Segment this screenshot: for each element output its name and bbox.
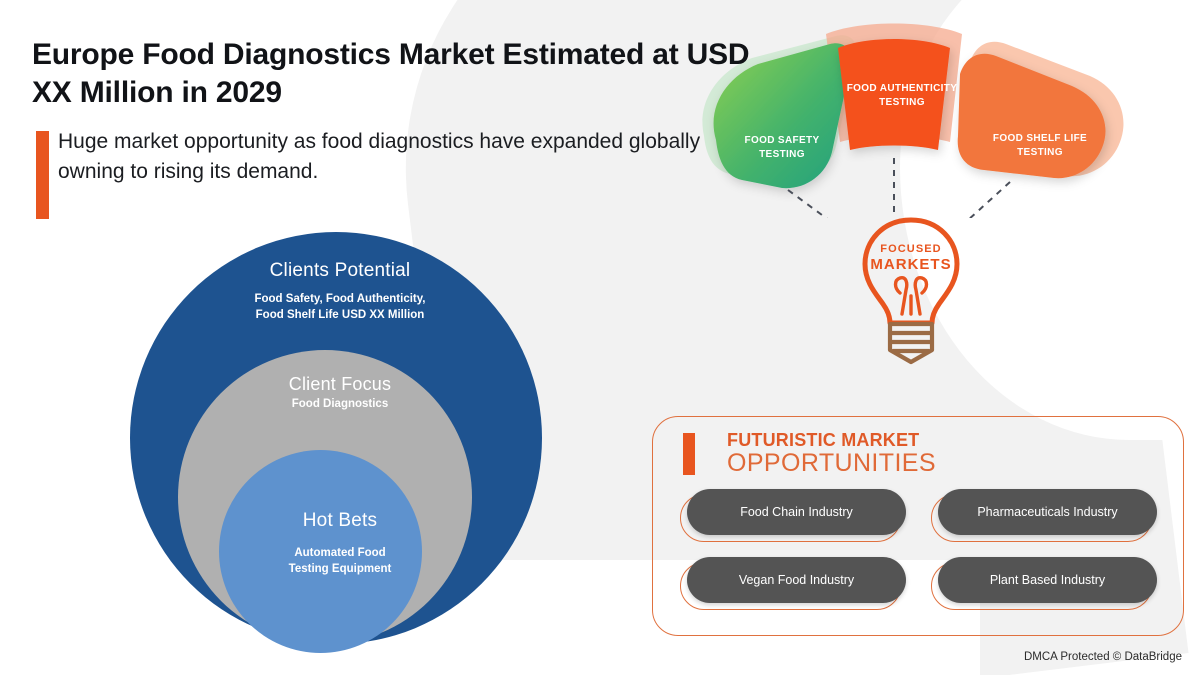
footer-copyright: DMCA Protected © DataBridge xyxy=(1024,651,1182,663)
list-item[interactable]: Pharmaceuticals Industry xyxy=(936,489,1155,537)
ring-desc: Automated FoodTesting Equipment xyxy=(130,546,550,578)
list-item[interactable]: Vegan Food Industry xyxy=(685,557,904,605)
bulb-label: FOCUSED MARKETS xyxy=(852,244,970,272)
petal-label-food-authenticity: FOOD AUTHENTICITYTESTING xyxy=(822,82,982,109)
accent-bar xyxy=(36,131,49,219)
pill-vegan-food-industry[interactable]: Vegan Food Industry xyxy=(687,557,906,603)
ring-desc: Food Diagnostics xyxy=(130,397,550,413)
header: Europe Food Diagnostics Market Estimated… xyxy=(32,36,752,186)
opportunities-heading-line2: OPPORTUNITIES xyxy=(727,451,1183,476)
subtitle-block: Huge market opportunity as food diagnost… xyxy=(32,127,752,187)
bulb-label-line1: FOCUSED xyxy=(852,244,970,255)
page-title: Europe Food Diagnostics Market Estimated… xyxy=(32,36,752,113)
opportunities-heading-line1: FUTURISTIC MARKET xyxy=(727,431,1183,449)
ring-label-hot-bets: Hot Bets Automated FoodTesting Equipment xyxy=(130,510,550,578)
infographic-canvas: Europe Food Diagnostics Market Estimated… xyxy=(0,0,1200,675)
lightbulb-icon xyxy=(852,214,970,366)
ring-desc: Food Safety, Food Authenticity,Food Shel… xyxy=(130,292,550,324)
pill-plant-based-industry[interactable]: Plant Based Industry xyxy=(938,557,1157,603)
list-item[interactable]: Plant Based Industry xyxy=(936,557,1155,605)
focused-markets-bulb: FOCUSED MARKETS xyxy=(852,214,970,366)
pill-pharmaceuticals-industry[interactable]: Pharmaceuticals Industry xyxy=(938,489,1157,535)
pill-food-chain-industry[interactable]: Food Chain Industry xyxy=(687,489,906,535)
opportunities-heading: FUTURISTIC MARKET OPPORTUNITIES xyxy=(653,417,1183,476)
petal-label-food-shelf-life: FOOD SHELF LIFETESTING xyxy=(970,132,1110,159)
page-subtitle: Huge market opportunity as food diagnost… xyxy=(58,127,752,187)
ring-label-client-focus: Client Focus Food Diagnostics xyxy=(130,374,550,413)
ring-title: Clients Potential xyxy=(130,260,550,282)
ring-label-clients-potential: Clients Potential Food Safety, Food Auth… xyxy=(130,260,550,324)
ring-title: Client Focus xyxy=(130,374,550,395)
concentric-circles-diagram: Clients Potential Food Safety, Food Auth… xyxy=(130,232,550,652)
opportunities-pill-grid: Food Chain Industry Pharmaceuticals Indu… xyxy=(685,489,1155,605)
ring-title: Hot Bets xyxy=(130,510,550,532)
bulb-label-line2: MARKETS xyxy=(852,257,970,272)
futuristic-market-opportunities-panel: FUTURISTIC MARKET OPPORTUNITIES Food Cha… xyxy=(652,416,1184,636)
petal-food-shelf-life-testing[interactable] xyxy=(958,54,1106,178)
list-item[interactable]: Food Chain Industry xyxy=(685,489,904,537)
